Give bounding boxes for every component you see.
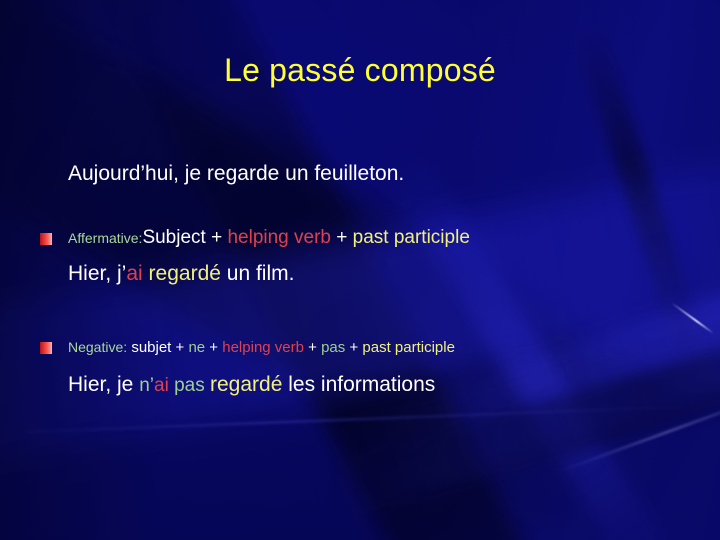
- negative-example-participle: regardé: [210, 373, 282, 396]
- slide-title: Le passé composé: [0, 52, 720, 89]
- intro-sentence: Aujourd’hui, je regarde un feuilleton.: [68, 160, 690, 188]
- negative-example-auxiliary: ai: [154, 375, 169, 396]
- affirmative-label: Affermative:: [68, 230, 142, 246]
- negative-example-pas: pas: [169, 375, 210, 396]
- affirmative-example-participle: regardé: [143, 262, 221, 285]
- negative-past-participle: past participle: [362, 339, 455, 356]
- negative-plus-2: +: [304, 339, 321, 356]
- affirmative-example-part1: Hier, j’: [68, 262, 126, 285]
- affirmative-bullet-row: Affermative:Subject + helping verb + pas…: [38, 226, 690, 251]
- affirmative-subject: Subject +: [142, 227, 227, 248]
- affirmative-example-part4: un film.: [221, 262, 295, 285]
- negative-pas: pas: [321, 339, 345, 356]
- slide-body: Aujourd’hui, je regarde un feuilleton. A…: [38, 160, 690, 402]
- slide-content: Le passé composé Aujourd’hui, je regarde…: [0, 0, 720, 540]
- negative-helping-verb: helping verb: [222, 339, 304, 356]
- square-bullet-icon: [40, 342, 52, 354]
- negative-plus-1: +: [205, 339, 222, 356]
- negative-bullet-row: Negative: subjet + ne + helping verb + p…: [38, 335, 690, 360]
- negative-example-part6: les informations: [282, 373, 435, 396]
- affirmative-example: Hier, j’ai regardé un film.: [68, 259, 690, 291]
- affirmative-past-participle: past participle: [353, 227, 470, 248]
- negative-ne: ne: [188, 339, 205, 356]
- negative-label: Negative:: [68, 339, 127, 355]
- affirmative-example-auxiliary: ai: [126, 262, 142, 285]
- affirmative-helping-verb: helping verb: [227, 227, 331, 248]
- negative-example-ne: n’: [139, 375, 154, 396]
- negative-example-part1: Hier, je: [68, 373, 139, 396]
- negative-example: Hier, je n’ai pas regardé les informatio…: [68, 370, 690, 402]
- affirmative-plus: +: [331, 227, 353, 248]
- negative-plus-3: +: [345, 339, 362, 356]
- negative-subject: subjet +: [127, 339, 188, 356]
- presentation-slide: Le passé composé Aujourd’hui, je regarde…: [0, 0, 720, 540]
- square-bullet-icon: [40, 233, 52, 245]
